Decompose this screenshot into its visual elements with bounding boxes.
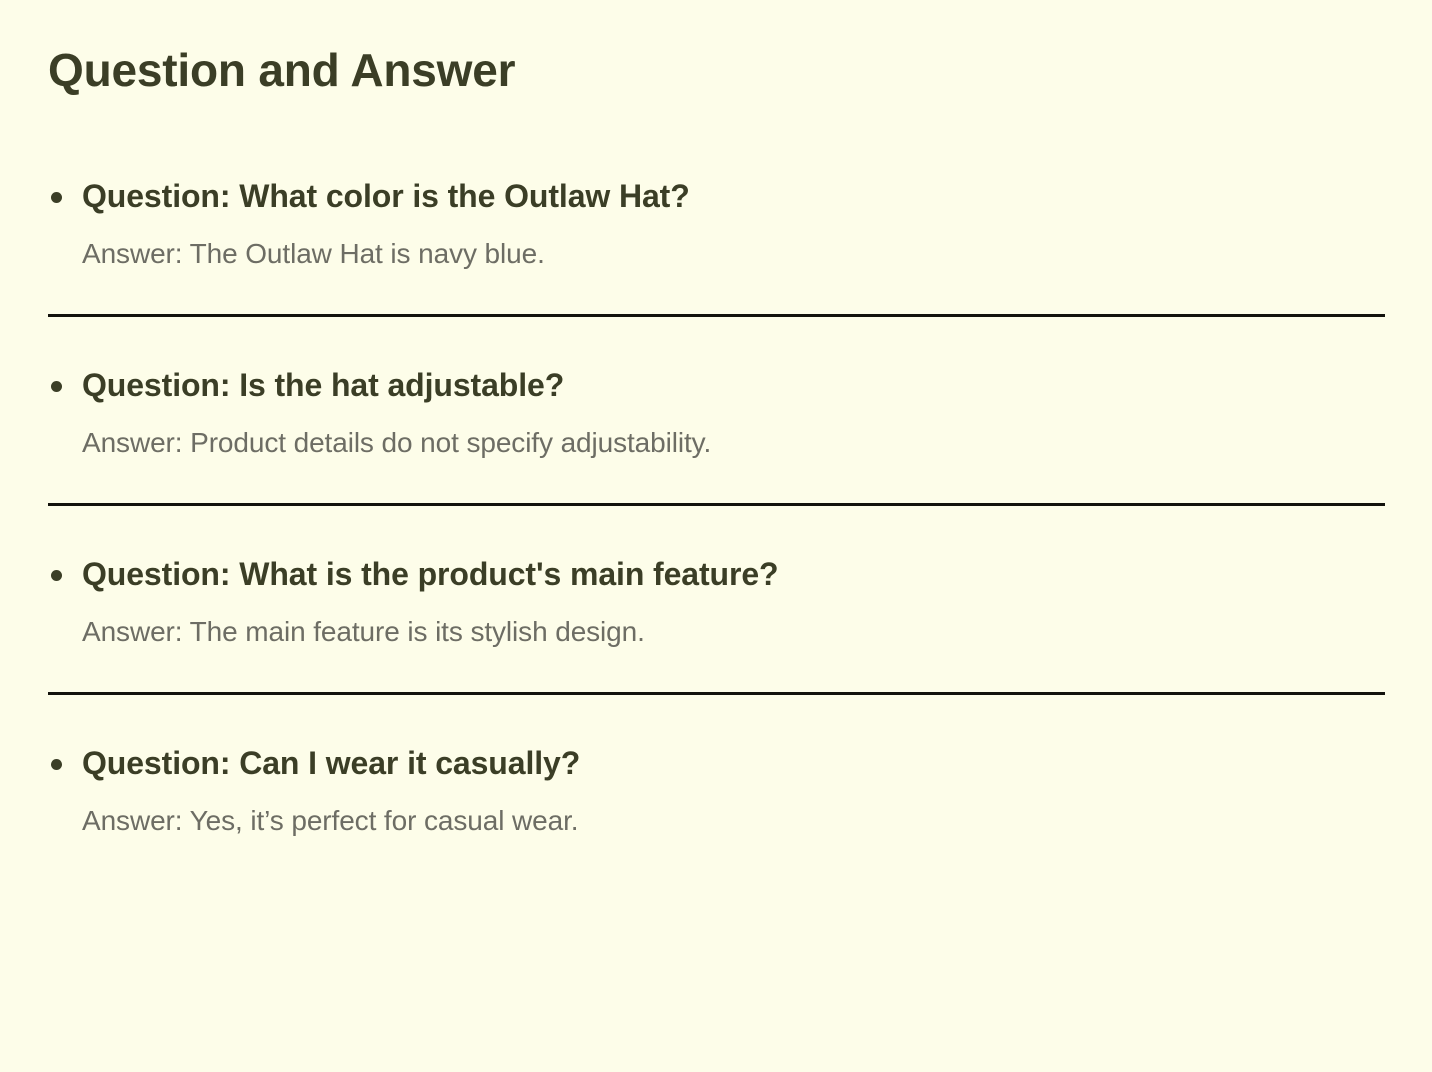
qa-item: Question: Can I wear it casually? Answer…: [0, 735, 1432, 843]
qa-answer-text: Answer: Yes, it’s perfect for casual wea…: [0, 799, 1432, 843]
qa-divider: [48, 314, 1385, 317]
qa-item: Question: What is the product's main fea…: [0, 546, 1432, 695]
qa-question-row: Question: Is the hat adjustable?: [0, 357, 1432, 413]
qa-question-row: Question: What is the product's main fea…: [0, 546, 1432, 602]
page-title: Question and Answer: [48, 44, 515, 97]
qa-question-row: Question: Can I wear it casually?: [0, 735, 1432, 791]
qa-answer-text: Answer: Product details do not specify a…: [0, 421, 1432, 465]
qa-question-text: Question: What is the product's main fea…: [82, 546, 1392, 602]
qa-question-text: Question: Can I wear it casually?: [82, 735, 1392, 791]
qa-list: Question: What color is the Outlaw Hat? …: [0, 168, 1432, 843]
qa-divider: [48, 692, 1385, 695]
bullet-dot-icon: [51, 759, 62, 770]
qa-page: Question and Answer Question: What color…: [0, 0, 1432, 1072]
qa-item: Question: Is the hat adjustable? Answer:…: [0, 357, 1432, 506]
bullet-dot-icon: [51, 192, 62, 203]
qa-answer-text: Answer: The main feature is its stylish …: [0, 610, 1432, 654]
qa-item: Question: What color is the Outlaw Hat? …: [0, 168, 1432, 317]
qa-question-row: Question: What color is the Outlaw Hat?: [0, 168, 1432, 224]
qa-divider: [48, 503, 1385, 506]
qa-question-text: Question: Is the hat adjustable?: [82, 357, 1392, 413]
bullet-dot-icon: [51, 570, 62, 581]
qa-answer-text: Answer: The Outlaw Hat is navy blue.: [0, 232, 1432, 276]
qa-question-text: Question: What color is the Outlaw Hat?: [82, 168, 1392, 224]
bullet-dot-icon: [51, 381, 62, 392]
